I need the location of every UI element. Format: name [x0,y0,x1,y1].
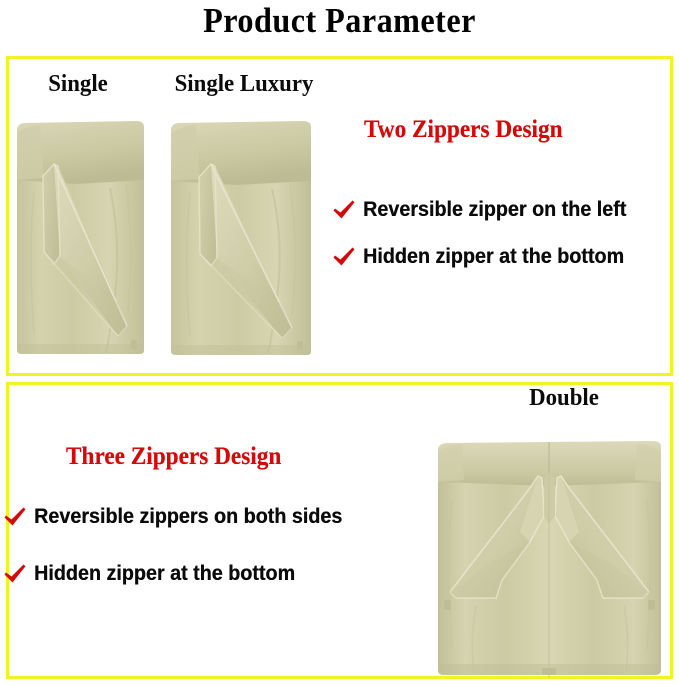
product-label-double: Double [494,385,635,412]
feature-row-reversible-zippers-both-sides: Reversible zippers on both sides [2,505,362,529]
page-title: Product Parameter [27,0,652,44]
feature-text: Hidden zipper at the bottom [34,562,295,586]
heading-three-zippers-design: Three Zippers Design [66,443,281,471]
feature-text: Reversible zippers on both sides [34,505,342,529]
product-image-single-luxury [168,103,314,357]
feature-row-hidden-zipper-bottom: Hidden zipper at the bottom [2,562,312,586]
check-icon [2,562,28,586]
product-image-double [434,420,665,678]
check-icon [331,198,357,222]
feature-row-hidden-zipper-bottom-top: Hidden zipper at the bottom [331,245,641,269]
product-label-single: Single [12,71,145,98]
heading-two-zippers-design: Two Zippers Design [364,116,563,144]
product-label-single-luxury: Single Luxury [155,71,334,98]
feature-text: Hidden zipper at the bottom [363,245,624,269]
check-icon [331,245,357,269]
check-icon [2,505,28,529]
product-image-single [14,104,147,356]
feature-row-reversible-zipper-left: Reversible zipper on the left [331,198,643,222]
feature-text: Reversible zipper on the left [363,198,626,222]
